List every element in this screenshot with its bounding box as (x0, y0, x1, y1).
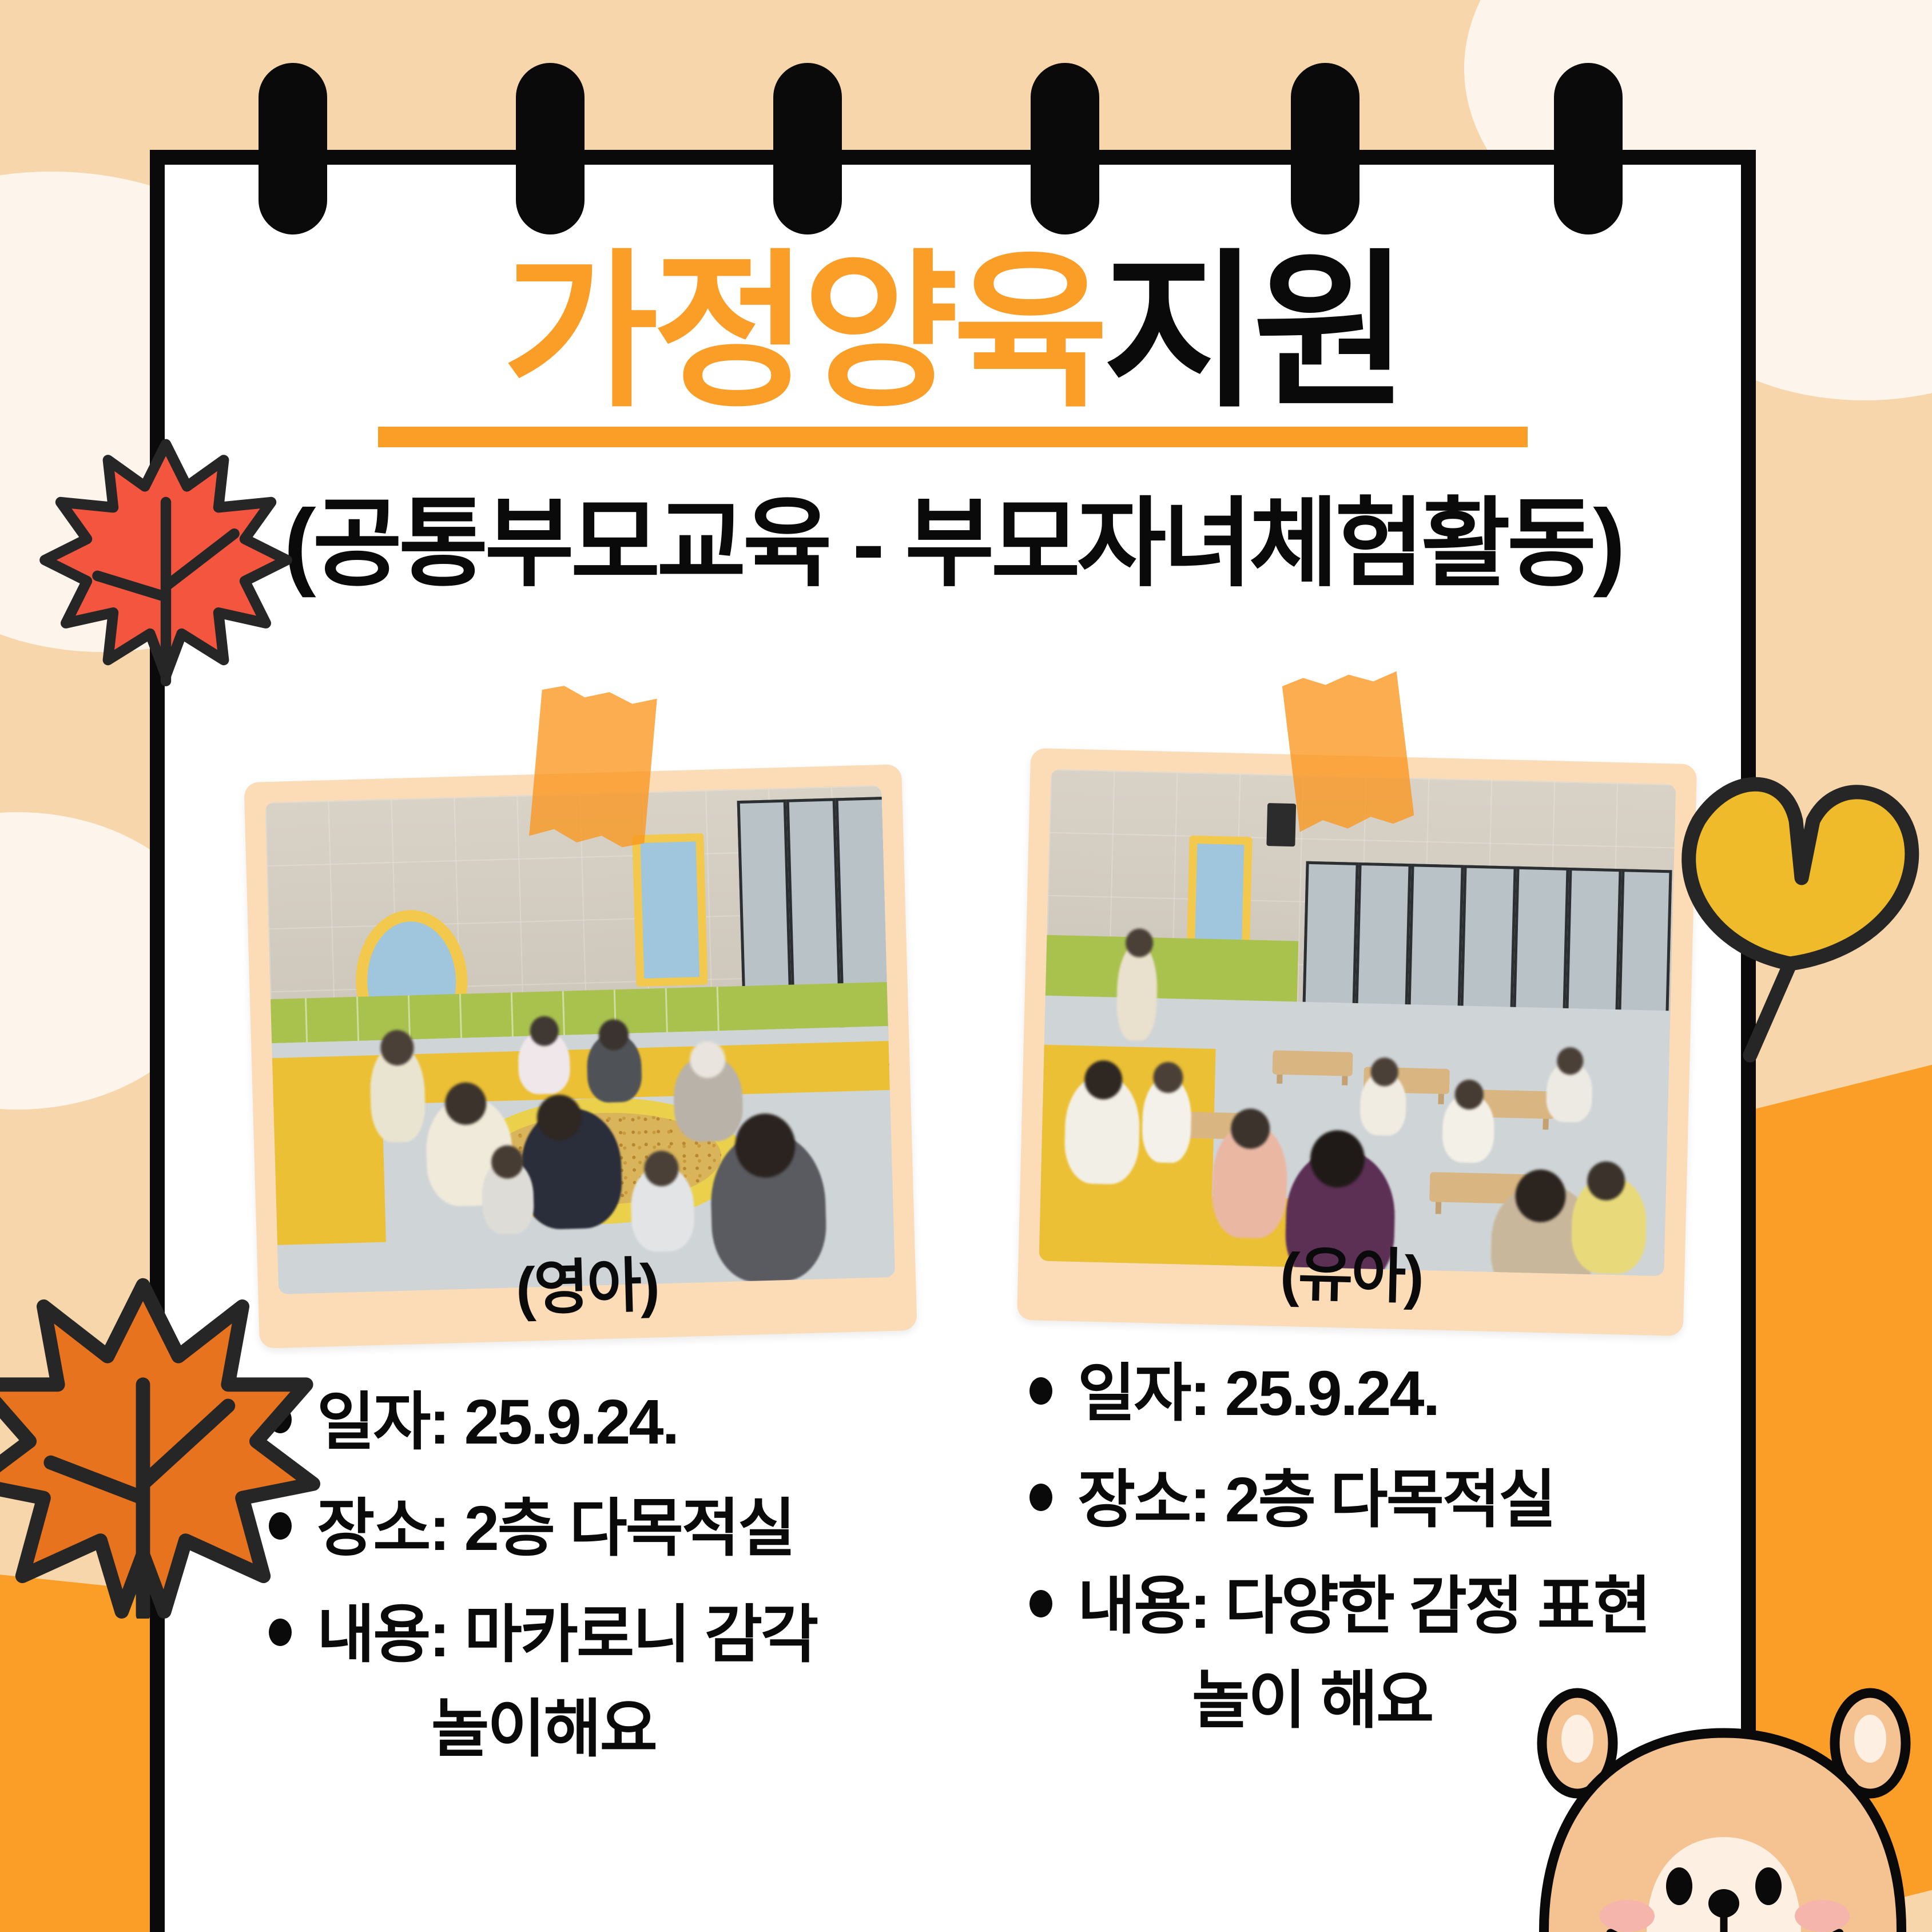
photo-yellow-window (632, 833, 707, 987)
bullet-dot-icon (1029, 1377, 1052, 1405)
photo-scene (265, 785, 895, 1294)
binder-ring-icon (1031, 63, 1099, 234)
bullet-dot-icon (1029, 1590, 1052, 1617)
list-item-value: 마카로니 감각 (464, 1600, 817, 1670)
list-item-text: 장소: 2층 다목적실 (317, 1490, 794, 1567)
photo-caption-infant: (영아) (257, 1229, 917, 1334)
page-title: 가정양육지원 (150, 246, 1756, 419)
photo-card-toddler: (유아) (1017, 748, 1697, 1336)
list-item: 장소: 2층 다목적실 (1029, 1462, 1773, 1539)
list-item-value: 2층 다목적실 (464, 1493, 794, 1564)
list-item-value-line2: 놀이해요 (431, 1691, 817, 1768)
title-highlight: 가정양육 (503, 237, 1103, 427)
photo-infant-activity (265, 785, 895, 1294)
list-item-value: 25.9.24. (1225, 1358, 1439, 1429)
binder-ring-icon (1554, 63, 1623, 234)
binder-ring-icon (516, 63, 585, 234)
photo-card-infant: (영아) (244, 764, 917, 1349)
page-subtitle: (공통부모교육 - 부모자녀체험활동) (150, 464, 1756, 605)
list-item-label: 내용: (1078, 1571, 1209, 1641)
photo-speaker (1266, 803, 1296, 846)
list-item-text: 일자: 25.9.24. (317, 1384, 678, 1461)
maple-leaf-orange-icon (0, 1264, 320, 1619)
list-item-text: 일자: 25.9.24. (1078, 1355, 1438, 1432)
list-item-label: 일자: (1078, 1358, 1209, 1429)
list-item: 내용: 마카로니 감각 놀이해요 (269, 1597, 984, 1767)
photo-yellow-mat (273, 1095, 386, 1245)
list-item: 일자: 25.9.24. (1029, 1355, 1773, 1432)
binder-ring-icon (773, 63, 842, 234)
photo-scene (1039, 769, 1676, 1276)
maple-leaf-red-icon (34, 423, 297, 686)
photo-caption-toddler: (유아) (1017, 1219, 1685, 1321)
list-item-label: 내용: (317, 1600, 448, 1670)
photo-low-table (1273, 1050, 1353, 1076)
list-item-label: 장소: (1078, 1465, 1209, 1535)
ginkgo-leaf-yellow-icon (1647, 755, 1932, 1075)
poster-root: 가정양육지원 (공통부모교육 - 부모자녀체험활동) (0, 0, 1932, 1932)
details-column-infant: 일자: 25.9.24. 장소: 2층 다목적실 내용: 마카로니 감각 놀이해… (269, 1384, 984, 1798)
photo-green-wall-pad (1045, 935, 1299, 1004)
list-item: 일자: 25.9.24. (269, 1384, 984, 1461)
list-item-label: 장소: (317, 1493, 448, 1564)
binder-rings (150, 63, 1756, 252)
binder-ring-icon (1291, 63, 1359, 234)
list-item-text: 내용: 마카로니 감각 놀이해요 (317, 1597, 817, 1767)
list-item-value: 25.9.24. (464, 1387, 678, 1457)
tape-piece-icon (1279, 668, 1414, 834)
photo-toddler-activity (1039, 769, 1676, 1276)
bear-mascot-icon (1504, 1676, 1932, 1932)
list-item-value: 2층 다목적실 (1225, 1465, 1555, 1535)
title-rest: 지원 (1103, 237, 1403, 427)
binder-ring-icon (259, 63, 327, 234)
bullet-dot-icon (1029, 1484, 1052, 1511)
title-block: 가정양육지원 (공통부모교육 - 부모자녀체험활동) (150, 246, 1756, 605)
list-item-text: 장소: 2층 다목적실 (1078, 1462, 1555, 1539)
bullet-dot-icon (269, 1619, 292, 1646)
title-underline-bar (378, 427, 1528, 447)
list-item-value: 다양한 감정 표현 (1225, 1571, 1650, 1641)
list-item: 장소: 2층 다목적실 (269, 1490, 984, 1567)
list-item-label: 일자: (317, 1387, 448, 1457)
tape-piece-icon (524, 683, 659, 849)
